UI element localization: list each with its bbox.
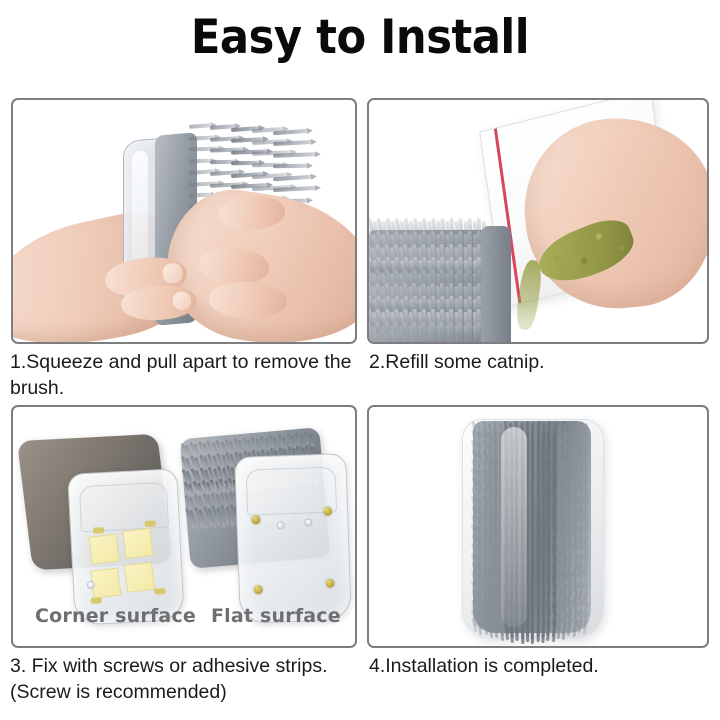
step-4-illustration [369,407,707,646]
step-3-caption: 3. Fix with screws or adhesive strips. (… [10,653,362,705]
step-3-image-panel: Corner surface Flat surface [11,405,357,648]
step-3-illustration: Corner surface Flat surface [13,407,355,646]
page-title: Easy to Install [29,12,691,64]
screw-hole [277,522,283,528]
brush-spine [481,226,511,344]
adhesive-tab [154,588,165,595]
groomer-bristle-block [473,421,591,633]
flat-mount-plate [234,453,352,624]
step-1-image-panel [11,98,357,344]
step-1-illustration [13,100,355,342]
adhesive-pad [88,534,119,565]
adhesive-pad [124,562,155,593]
adhesive-tab [93,527,104,534]
adhesive-pad [122,528,153,559]
brass-screw [323,507,332,516]
brass-screw [254,585,263,594]
screw-hole [305,519,311,525]
adhesive-tab [145,520,156,527]
fingernail [162,262,184,284]
adhesive-tab [91,597,102,604]
corner-mount-plate [67,468,185,626]
corner-surface-label: Corner surface [35,605,196,627]
step-4-caption: 4.Installation is completed. [369,653,709,679]
step-2-image-panel [367,98,709,344]
adhesive-pad [90,568,121,599]
step-2-illustration [369,100,707,342]
corner-bristles [369,218,489,344]
fingernail [172,291,191,310]
flat-surface-label: Flat surface [211,605,341,627]
brass-screw [251,515,260,524]
step-4-image-panel [367,405,709,648]
step-1-caption: 1.Squeeze and pull apart to remove the b… [10,349,362,401]
brass-screw [325,579,334,588]
step-2-caption: 2.Refill some catnip. [369,349,709,375]
